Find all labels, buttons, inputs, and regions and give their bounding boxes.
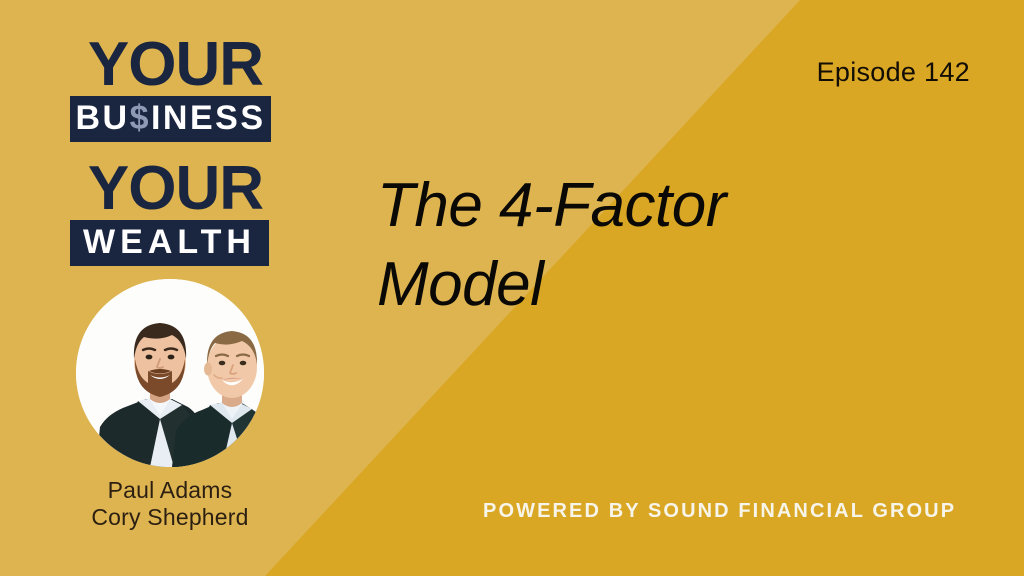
logo-bar-wealth: WEALTH bbox=[70, 220, 269, 266]
logo-word-your-top: YOUR bbox=[70, 38, 275, 91]
episode-number-label: Episode 142 bbox=[817, 57, 970, 88]
host-name-1: Paul Adams bbox=[50, 477, 290, 504]
hosts-names: Paul Adams Cory Shepherd bbox=[50, 477, 290, 531]
logo-bar-business: BU$INESS bbox=[70, 96, 271, 142]
host-name-2: Cory Shepherd bbox=[50, 504, 290, 531]
dollar-sign-icon: $ bbox=[130, 99, 151, 137]
episode-title-line-2: Model bbox=[377, 245, 937, 324]
hosts-avatar bbox=[76, 279, 264, 467]
brand-logo: YOUR BU$INESS YOUR WEALTH bbox=[70, 38, 275, 266]
powered-by-label: POWERED BY SOUND FINANCIAL GROUP bbox=[483, 500, 956, 523]
logo-business-prefix: BU bbox=[75, 99, 129, 137]
logo-word-your-bottom: YOUR bbox=[70, 162, 275, 215]
episode-title: The 4-Factor Model bbox=[377, 166, 937, 325]
hosts-photo-illustration bbox=[76, 279, 264, 467]
episode-title-line-1: The 4-Factor bbox=[377, 166, 937, 245]
logo-business-suffix: INESS bbox=[151, 99, 266, 137]
podcast-episode-cover: YOUR BU$INESS YOUR WEALTH bbox=[0, 0, 1024, 576]
